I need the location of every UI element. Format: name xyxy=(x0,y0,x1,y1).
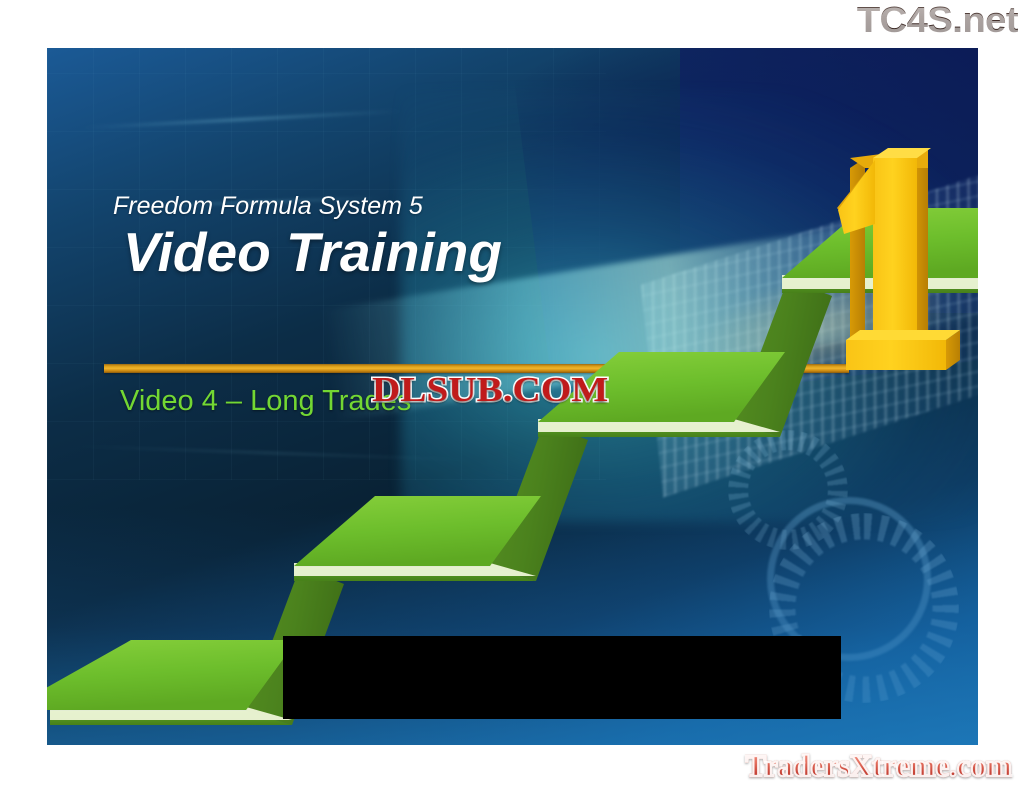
black-redaction-bar xyxy=(283,636,841,719)
dlsub-watermark: DLSUB.COM xyxy=(372,372,608,407)
title-block: Freedom Formula System 5 Video Training xyxy=(113,193,502,282)
presentation-slide: Freedom Formula System 5 Video Training … xyxy=(47,48,978,745)
tradersxtreme-watermark: TradersXtreme.com xyxy=(745,750,1012,781)
slide-subtitle: Video 4 – Long Trades xyxy=(120,385,411,418)
slide-eyebrow-text: Freedom Formula System 5 xyxy=(113,193,502,221)
tc4s-watermark: TC4S.net xyxy=(857,2,1018,38)
slide-title: Video Training xyxy=(123,223,502,282)
